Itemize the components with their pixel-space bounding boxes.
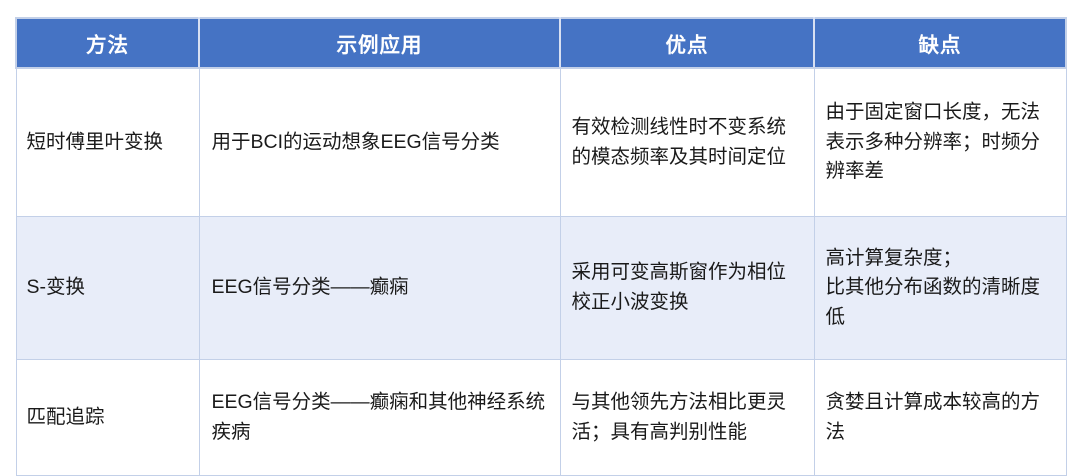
- cell-application: 用于BCI的运动想象EEG信号分类: [199, 68, 560, 217]
- table-row: S-变换 EEG信号分类——癫痫 采用可变高斯窗作为相位校正小波变换 高计算复杂…: [16, 217, 1066, 360]
- cell-application: EEG信号分类——癫痫和其他神经系统疾病: [199, 360, 560, 476]
- cell-application: EEG信号分类——癫痫: [199, 217, 560, 360]
- table-row: 匹配追踪 EEG信号分类——癫痫和其他神经系统疾病 与其他领先方法相比更灵活；具…: [16, 360, 1066, 476]
- cell-disadvantage-text: 贪婪且计算成本较高的方法: [826, 388, 1057, 447]
- cell-disadvantage-text: 由于固定窗口长度，无法表示多种分辨率；时频分辨率差: [826, 98, 1057, 187]
- cell-method-text: 短时傅里叶变换: [27, 128, 190, 158]
- column-header-method: 方法: [16, 18, 199, 68]
- cell-application-text: EEG信号分类——癫痫和其他神经系统疾病: [212, 388, 551, 447]
- column-header-application: 示例应用: [199, 18, 560, 68]
- cell-advantage: 采用可变高斯窗作为相位校正小波变换: [560, 217, 814, 360]
- cell-disadvantage: 高计算复杂度； 比其他分布函数的清晰度低: [814, 217, 1066, 360]
- cell-advantage: 有效检测线性时不变系统的模态频率及其时间定位: [560, 68, 814, 217]
- cell-method-text: 匹配追踪: [27, 403, 190, 433]
- cell-advantage: 与其他领先方法相比更灵活；具有高判别性能: [560, 360, 814, 476]
- column-header-disadvantage: 缺点: [814, 18, 1066, 68]
- comparison-table-container: 方法 示例应用 优点 缺点 短时傅里叶变换 用于BCI的运动想象EEG信号分类 …: [15, 17, 1065, 433]
- cell-application-text: EEG信号分类——癫痫: [212, 273, 551, 303]
- column-header-advantage: 优点: [560, 18, 814, 68]
- cell-method-text: S-变换: [27, 273, 190, 303]
- table-header: 方法 示例应用 优点 缺点: [16, 18, 1066, 68]
- cell-method: S-变换: [16, 217, 199, 360]
- table-body: 短时傅里叶变换 用于BCI的运动想象EEG信号分类 有效检测线性时不变系统的模态…: [16, 68, 1066, 476]
- cell-advantage-text: 采用可变高斯窗作为相位校正小波变换: [572, 258, 805, 317]
- cell-disadvantage: 由于固定窗口长度，无法表示多种分辨率；时频分辨率差: [814, 68, 1066, 217]
- table-row: 短时傅里叶变换 用于BCI的运动想象EEG信号分类 有效检测线性时不变系统的模态…: [16, 68, 1066, 217]
- cell-application-text: 用于BCI的运动想象EEG信号分类: [212, 128, 551, 158]
- comparison-table: 方法 示例应用 优点 缺点 短时傅里叶变换 用于BCI的运动想象EEG信号分类 …: [15, 17, 1067, 476]
- cell-disadvantage-text: 高计算复杂度； 比其他分布函数的清晰度低: [826, 244, 1057, 333]
- table-header-row: 方法 示例应用 优点 缺点: [16, 18, 1066, 68]
- cell-disadvantage: 贪婪且计算成本较高的方法: [814, 360, 1066, 476]
- cell-method: 匹配追踪: [16, 360, 199, 476]
- cell-advantage-text: 有效检测线性时不变系统的模态频率及其时间定位: [572, 113, 805, 172]
- cell-method: 短时傅里叶变换: [16, 68, 199, 217]
- cell-advantage-text: 与其他领先方法相比更灵活；具有高判别性能: [572, 388, 805, 447]
